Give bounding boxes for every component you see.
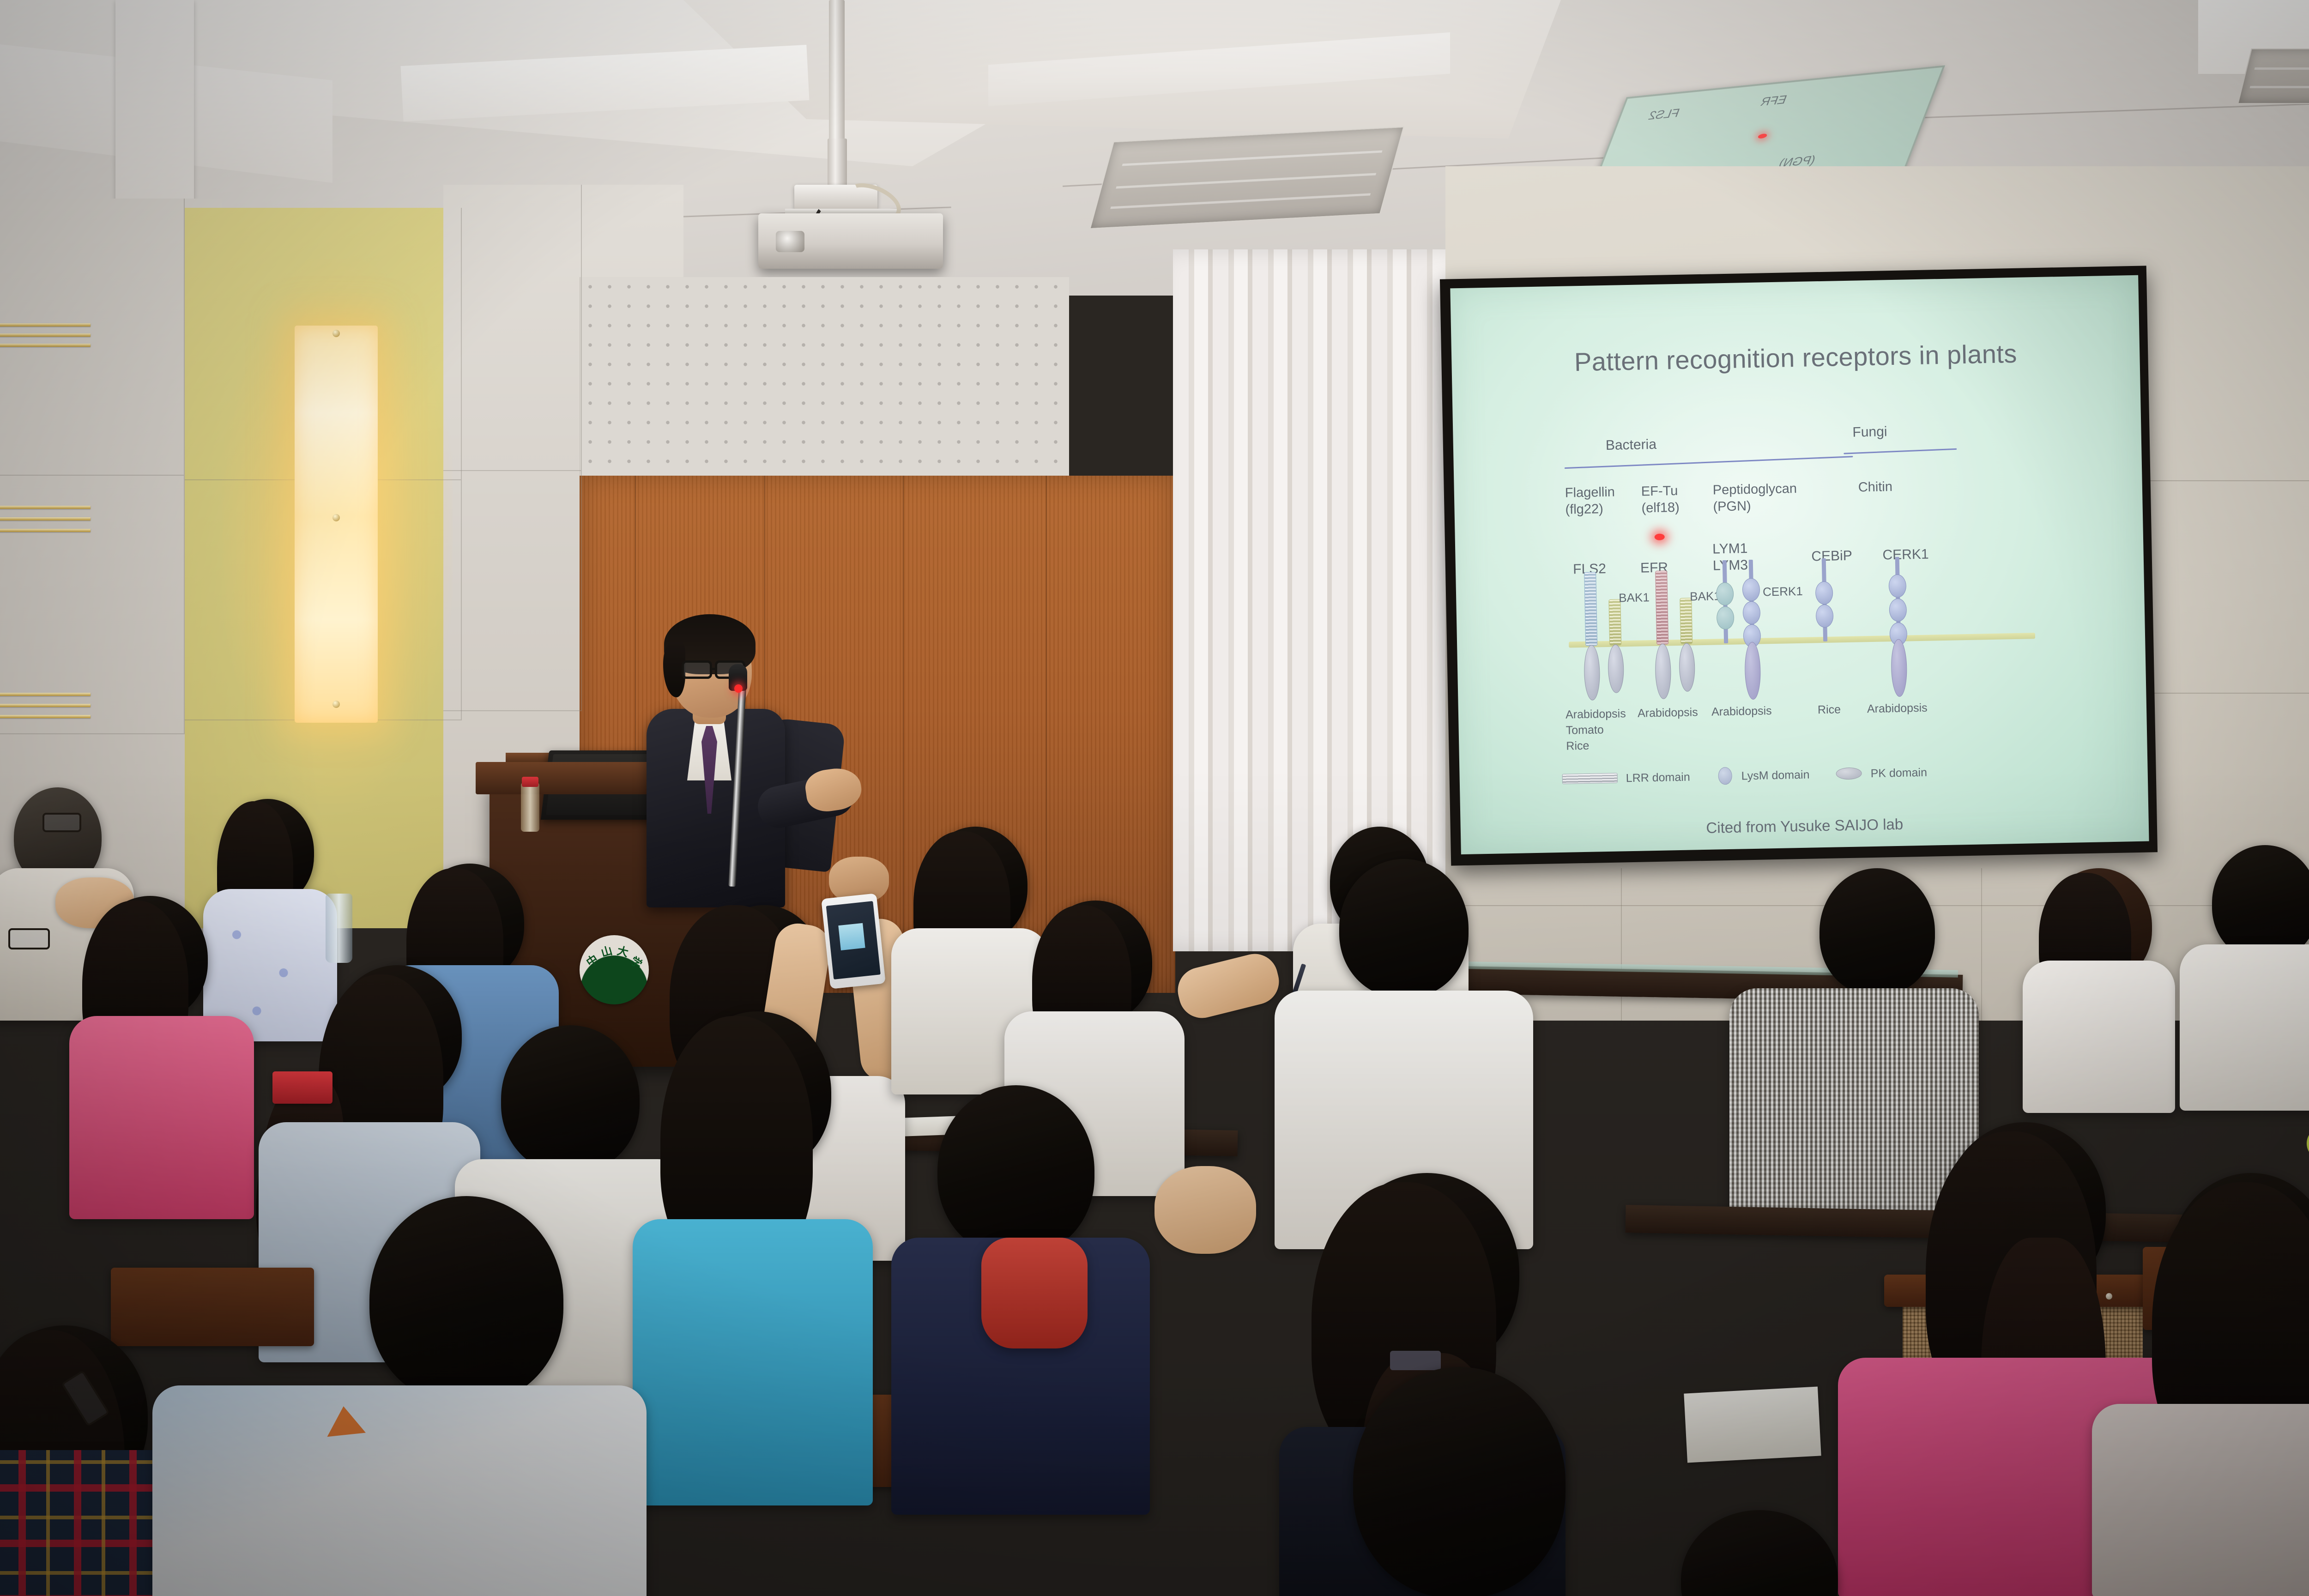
ceiling-air-vent-left	[1089, 127, 1404, 229]
window-vertical-blinds	[1173, 249, 1473, 951]
kingdom-label-bacteria: Bacteria	[1606, 437, 1657, 453]
attendee-cyan-top-body	[633, 1219, 873, 1505]
projection-screen-frame: Pattern recognition receptors in plants …	[1440, 266, 2158, 865]
ceiling-reflection-text-2: EFR	[1759, 92, 1789, 109]
slide-kingdom-headers: Bacteria Fungi	[1453, 428, 2142, 483]
wall-panel-grid-mid-1	[443, 185, 582, 471]
cerk1f-lysm-domain-1	[1888, 574, 1906, 598]
sconce-stud-bot	[332, 701, 340, 708]
wall-sconce	[295, 326, 378, 723]
desk-red-pencil-case	[272, 1071, 332, 1104]
desk-water-bottle-back-left	[326, 894, 352, 963]
sconce-bar-bot-1	[0, 693, 91, 696]
species-label-cerk1: Arabidopsis	[1867, 701, 1928, 717]
emblem-character-3: 大	[616, 942, 630, 960]
wall-panel-grid-mid-2	[443, 471, 582, 711]
fls2-partner-label: BAK1	[1619, 590, 1650, 605]
attendee-bottom-center-head	[1353, 1367, 1566, 1596]
lysm-domain-icon	[1718, 767, 1732, 785]
attendee-pink-top-body	[69, 1016, 254, 1219]
emblem-character-4: 学	[628, 952, 646, 971]
legend-label-pk: PK domain	[1870, 766, 1927, 780]
podium-water-bottle	[521, 783, 539, 832]
pamp-detail-flagellin: (flg22)	[1565, 502, 1603, 517]
kingdom-label-fungi: Fungi	[1852, 424, 1887, 440]
efr-bak1-lrr-domain	[1680, 598, 1692, 644]
species-label-fls2: Arabidopsis Tomato Rice	[1566, 706, 1627, 754]
wall-seam-v-2	[1981, 868, 1982, 1021]
attendee-bottom-right-head	[1681, 1510, 1838, 1596]
lym-partner-label: CERK1	[1763, 584, 1803, 599]
attendee-front-center-hairtie	[1390, 1351, 1441, 1370]
green-mug-handle	[2307, 1129, 2309, 1158]
cerk1b-lysm-domain-1	[1742, 578, 1760, 602]
projection-screen-surface: Pattern recognition receptors in plants …	[1450, 275, 2149, 854]
slide-receptor-labels: FLS2 EFR LYM1 LYM3 CEBiP CERK1	[1455, 533, 2143, 546]
ceiling-reflection-laser-dot	[1757, 133, 1768, 139]
projector-lens	[776, 231, 804, 252]
attendee-far-right-front-body	[2092, 1404, 2309, 1596]
podium-water-bottle-cap	[522, 777, 538, 787]
presentation-slide: Pattern recognition receptors in plants …	[1450, 275, 2149, 854]
lym-lysm-domain-2	[1717, 606, 1735, 630]
cerk1b-pk-domain	[1744, 642, 1761, 700]
sconce-bar-mid-3	[0, 529, 91, 532]
attendee-pink-top-glasses	[8, 928, 50, 949]
pamp-label-chitin: Chitin	[1858, 478, 1892, 496]
ceiling-reflection-text-1: FLS2	[1646, 106, 1682, 123]
attendee-far-right-body	[2180, 944, 2309, 1111]
receptor-label-cerk1: CERK1	[1871, 546, 1940, 564]
notebook-front-right	[1684, 1387, 1821, 1463]
efr-pk-domain	[1655, 643, 1671, 699]
ceiling-beam-2	[115, 0, 194, 217]
slide-title: Pattern recognition receptors in plants	[1451, 336, 2140, 380]
attendee-smartphone[interactable]	[821, 893, 886, 989]
cerk1f-lysm-domain-2	[1889, 598, 1907, 622]
fls2-bak1-pk-domain	[1608, 644, 1624, 693]
smartphone-photo-preview	[839, 923, 865, 950]
sconce-stud-mid	[332, 514, 340, 521]
podium-university-emblem: 中 山 大 学	[580, 935, 649, 1004]
attendee-bottom-left-head-2	[369, 1196, 563, 1404]
efr-lrr-domain	[1655, 570, 1668, 644]
pamp-name-peptidoglycan: Peptidoglycan	[1713, 481, 1797, 497]
pamp-detail-eftu: (elf18)	[1641, 500, 1680, 516]
sconce-bar-mid-2	[0, 517, 91, 520]
attendee-back-right-body-2	[2023, 961, 2175, 1113]
fls2-pk-domain	[1584, 645, 1600, 701]
emblem-character-2: 山	[599, 941, 614, 960]
smartphone-screen	[826, 901, 881, 979]
attendee-blue-white-tee	[152, 1385, 647, 1596]
receptor-label-efr: EFR	[1626, 559, 1682, 577]
sconce-bar-bot-2	[0, 704, 91, 707]
legend-label-lrr: LRR domain	[1626, 771, 1690, 786]
sconce-bar-top-2	[0, 333, 91, 337]
wall-panel-grid-left-1	[0, 199, 185, 476]
attendee-tee-orange-triangle	[324, 1404, 366, 1437]
chair-stud-right-2	[2106, 1293, 2112, 1300]
cerk1b-lysm-domain-2	[1742, 601, 1760, 625]
pk-domain-icon	[1836, 767, 1862, 780]
cebip-lysm-domain-1	[1815, 581, 1833, 605]
wall-seam-v-1	[1621, 868, 1622, 1021]
plasma-membrane-line	[1569, 633, 2035, 647]
fls2-lrr-domain	[1584, 572, 1597, 646]
lecture-hall-photo: FLS2 EFR (elf18) (PGN) Peptidoglycan	[0, 0, 2309, 1596]
pamp-name-eftu: EF-Tu	[1641, 484, 1678, 499]
sconce-bar-mid-1	[0, 506, 91, 509]
slide-citation: Cited from Yusuke SAIJO lab	[1461, 811, 2149, 842]
kingdom-rule-bacteria	[1565, 456, 1853, 469]
attendee-elder-man-glasses	[42, 813, 81, 832]
pamp-name-flagellin: Flagellin	[1565, 485, 1615, 501]
chair-front-left	[111, 1268, 314, 1346]
attendee-child-hoodie-red-panel	[981, 1238, 1088, 1348]
wall-panel-perforated-acoustic	[580, 277, 1069, 508]
projector-mount-pole	[829, 0, 845, 152]
presenter-glasses-left-lens	[682, 660, 712, 679]
sconce-bar-top-3	[0, 344, 91, 347]
slide-legend: LRR domain LysM domain PK domain	[1460, 761, 2148, 774]
cerk1f-pk-domain	[1891, 639, 1907, 697]
species-label-cebip: Rice	[1818, 702, 1841, 718]
kingdom-rule-fungi	[1844, 448, 1957, 454]
attendee-child-head	[937, 1085, 1094, 1256]
attendee-houndstooth-shirt	[1729, 988, 1979, 1219]
attendee-houndstooth-head	[1819, 868, 1935, 995]
pamp-label-flagellin: Flagellin(flg22)	[1565, 484, 1615, 519]
receptor-label-lym1-lym3: LYM1 LYM3	[1695, 540, 1765, 574]
attendee-mid-left-head-3	[501, 1025, 640, 1173]
species-label-efr: Arabidopsis	[1638, 705, 1698, 721]
sconce-bar-bot-3	[0, 715, 91, 718]
attendee-child-hands	[1154, 1166, 1256, 1254]
emblem-character-1: 中	[582, 950, 600, 969]
sconce-stud-top	[332, 330, 340, 337]
laser-pointer-dot	[1655, 534, 1665, 540]
cebip-lysm-domain-2	[1816, 605, 1834, 628]
attendee-far-right-head	[2212, 845, 2309, 961]
sconce-bar-top-1	[0, 323, 91, 326]
pamp-detail-peptidoglycan: (PGN)	[1713, 499, 1751, 514]
fls2-bak1-lrr-domain	[1608, 599, 1621, 645]
presenter-glasses-bridge	[712, 668, 717, 670]
lrr-domain-icon	[1562, 773, 1618, 784]
attendee-notetaker-arm	[1173, 949, 1284, 1023]
lym-lysm-domain-1	[1716, 582, 1734, 606]
pamp-label-eftu: EF-Tu(elf18)	[1641, 483, 1680, 517]
species-label-lym: Arabidopsis	[1711, 703, 1772, 720]
desk-mid-right	[1626, 1205, 2203, 1243]
receptor-label-cebip: CEBiP	[1799, 547, 1864, 565]
pamp-label-peptidoglycan: Peptidoglycan(PGN)	[1712, 480, 1797, 515]
efr-bak1-pk-domain	[1679, 643, 1695, 692]
microphone-led-indicator	[734, 684, 743, 693]
legend-label-lysm: LysM domain	[1741, 768, 1809, 783]
attendee-white-shirt-man-head	[1339, 859, 1469, 997]
